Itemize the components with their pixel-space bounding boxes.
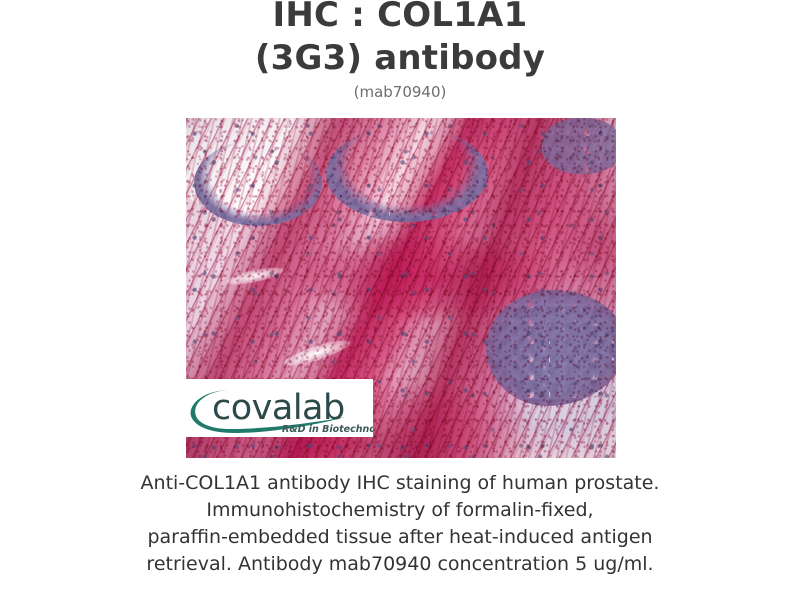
caption-line: Anti-COL1A1 antibody IHC staining of hum…: [0, 470, 800, 497]
page-title-line-2: (3G3) antibody: [0, 37, 800, 80]
caption-line: retrieval. Antibody mab70940 concentrati…: [0, 551, 800, 578]
caption-line: Immunohistochemistry of formalin-fixed,: [0, 497, 800, 524]
caption-line: paraffin-embedded tissue after heat-indu…: [0, 524, 800, 551]
caption-block: Anti-COL1A1 antibody IHC staining of hum…: [0, 470, 800, 578]
logo-tagline: R&D in Biotechnology: [282, 424, 373, 435]
page-title-line-1: IHC : COL1A1: [0, 0, 800, 37]
covalab-logo: covalab R&D in Biotechnology: [186, 379, 373, 437]
covalab-logo-graphic: covalab R&D in Biotechnology: [186, 379, 373, 437]
title-block: IHC : COL1A1 (3G3) antibody (mab70940): [0, 0, 800, 102]
catalog-number: (mab70940): [0, 82, 800, 102]
logo-wordmark: covalab: [212, 388, 345, 428]
ihc-micrograph-image: covalab R&D in Biotechnology: [186, 118, 616, 458]
